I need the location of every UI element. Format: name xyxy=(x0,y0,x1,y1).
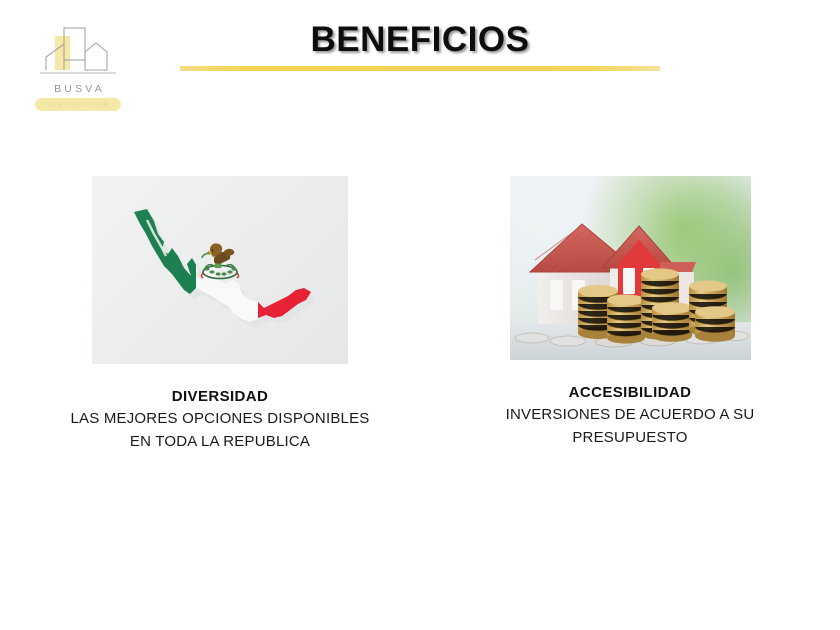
logo-wordmark: BUSVA xyxy=(28,83,128,95)
benefit-body-line2: PRESUPUESTO xyxy=(440,427,820,450)
logo-tagline: CONSTRUCTORA xyxy=(35,98,121,111)
benefit-heading: ACCESIBILIDAD xyxy=(440,382,820,404)
benefit-heading: DIVERSIDAD xyxy=(20,386,420,408)
benefit-caption: ACCESIBILIDAD INVERSIONES DE ACUERDO A S… xyxy=(440,382,820,449)
mexico-flag-map-image xyxy=(92,176,348,364)
benefit-caption: DIVERSIDAD LAS MEJORES OPCIONES DISPONIB… xyxy=(20,386,420,453)
slide-canvas: BUSVA CONSTRUCTORA BENEFICIOS xyxy=(0,0,840,630)
benefit-body-line2: EN TODA LA REPUBLICA xyxy=(20,431,420,454)
building-outline-icon xyxy=(28,26,128,82)
benefit-card-diversidad: DIVERSIDAD LAS MEJORES OPCIONES DISPONIB… xyxy=(20,176,420,453)
logo-tagline-pill: CONSTRUCTORA xyxy=(35,98,121,111)
page-title: BENEFICIOS xyxy=(180,20,660,60)
title-divider xyxy=(180,66,660,71)
house-and-coins-image xyxy=(510,176,751,360)
benefit-card-accesibilidad: ACCESIBILIDAD INVERSIONES DE ACUERDO A S… xyxy=(440,176,820,449)
benefit-body-line1: LAS MEJORES OPCIONES DISPONIBLES xyxy=(20,408,420,431)
brand-logo: BUSVA CONSTRUCTORA xyxy=(28,26,128,118)
benefit-body-line1: INVERSIONES DE ACUERDO A SU xyxy=(440,404,820,427)
